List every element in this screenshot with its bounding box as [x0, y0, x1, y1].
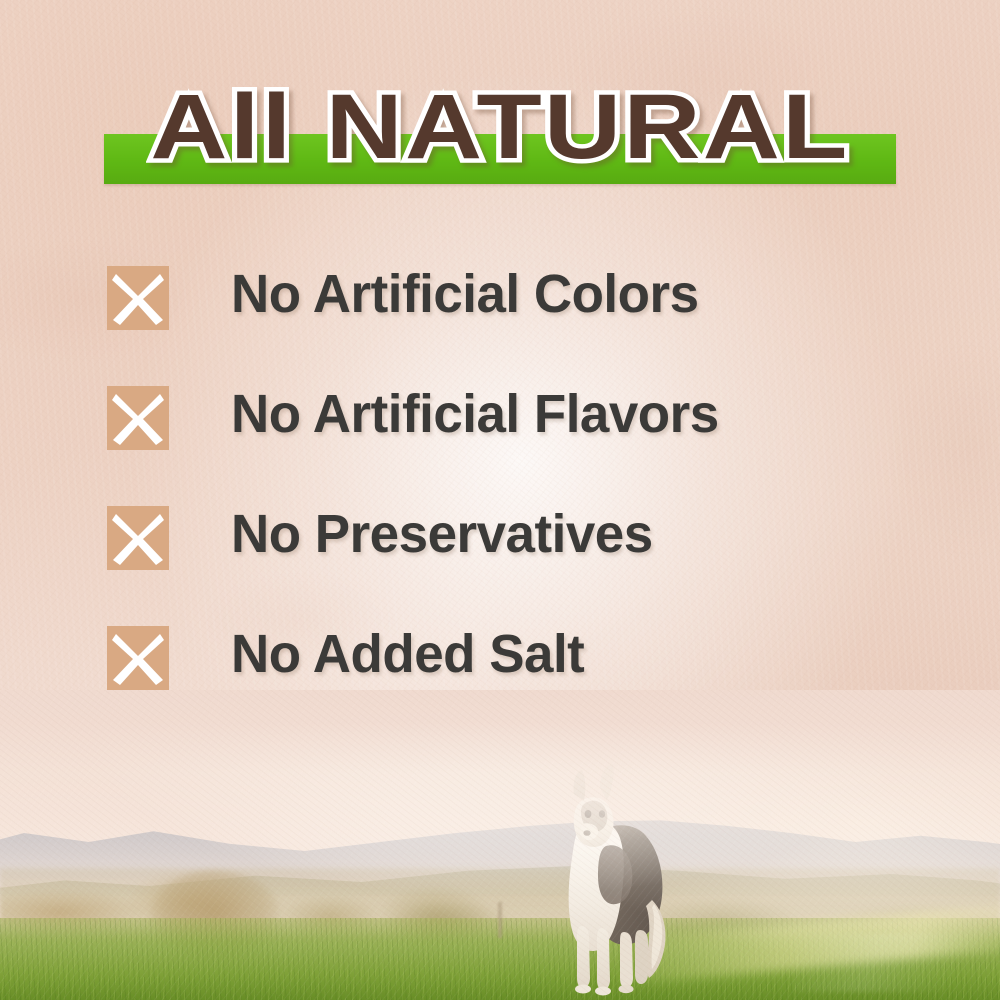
- feature-label: No Artificial Colors: [231, 258, 699, 330]
- x-mark-icon: [107, 506, 169, 570]
- feature-label: No Artificial Flavors: [231, 378, 719, 450]
- headline-text: All NATURAL: [0, 72, 1000, 182]
- photo-watermark-smudge: [792, 934, 972, 992]
- x-mark-icon: [107, 266, 169, 330]
- feature-label: No Added Salt: [231, 618, 584, 690]
- headline-banner: All NATURAL: [0, 72, 1000, 192]
- photo-fence-post: [498, 902, 502, 938]
- feature-row: No Artificial Colors: [0, 258, 1000, 378]
- x-mark-icon: [107, 626, 169, 690]
- feature-label: No Preservatives: [231, 498, 653, 570]
- poster-canvas: All NATURAL No Artificial Colors No Arti…: [0, 0, 1000, 1000]
- feature-row: No Preservatives: [0, 498, 1000, 618]
- dog-figure: [528, 750, 698, 1000]
- x-mark-icon: [107, 386, 169, 450]
- landscape-photo: [0, 690, 1000, 1000]
- feature-row: No Artificial Flavors: [0, 378, 1000, 498]
- feature-list: No Artificial Colors No Artificial Flavo…: [0, 258, 1000, 738]
